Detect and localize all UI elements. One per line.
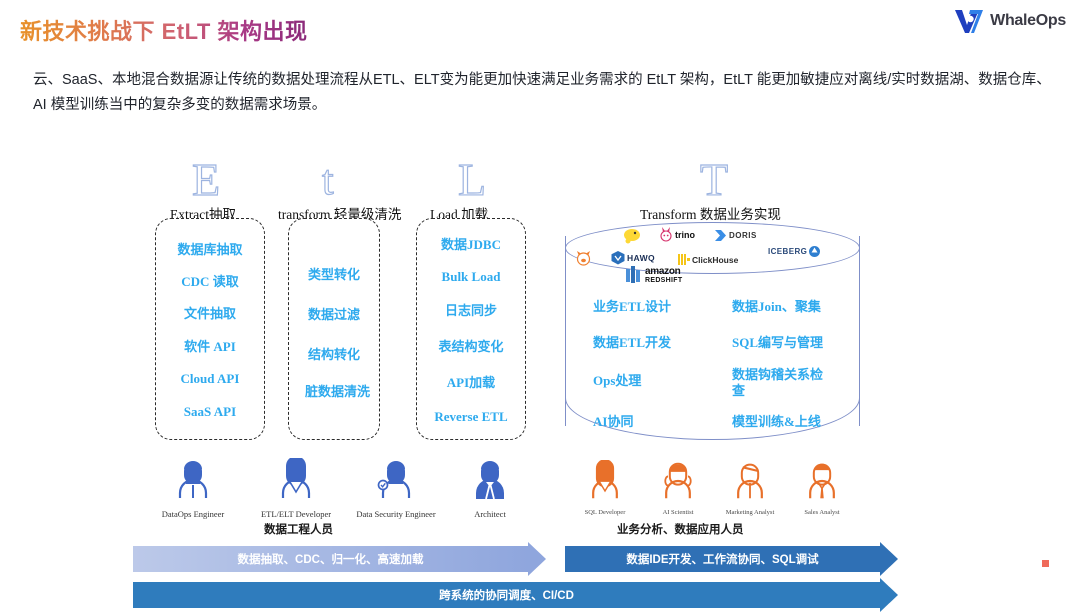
arrow-left-label: 数据抽取、CDC、归一化、高速加载 — [133, 546, 528, 572]
person-icon — [468, 458, 512, 502]
transform-cylinder: Hive trino DORIS Pig HAWQ — [565, 222, 860, 440]
iceberg-logo-icon: ICEBERG — [768, 246, 820, 257]
page-title: 新技术挑战下 EtLT 架构出现 — [20, 14, 307, 46]
persona-label: Data Security Engineer — [346, 509, 446, 519]
persona-label: ETL/ELT Developer — [246, 509, 346, 519]
list-item: API加载 — [417, 375, 525, 391]
list-item: 表结构变化 — [417, 339, 525, 355]
big-letter-t: t — [322, 160, 334, 202]
hawq-logo-icon: HAWQ — [611, 251, 655, 265]
big-letter-e: E — [192, 157, 220, 203]
persona-etl-elt-developer: ETL/ELT Developer — [246, 458, 346, 519]
arrow-head — [528, 542, 546, 576]
brand-name: WhaleOps — [990, 12, 1066, 30]
list-item: SaaS API — [156, 404, 264, 420]
list-item: 文件抽取 — [156, 306, 264, 322]
cyl-item: AI协同 — [593, 414, 633, 430]
big-letter-tt: T — [700, 157, 728, 203]
persona-label: Sales Analyst — [772, 509, 872, 516]
arrow-right-label: 数据IDE开发、工作流协同、SQL调试 — [565, 546, 880, 572]
column-header-transform: Transform 数据业务实现 — [640, 203, 781, 223]
list-item: Bulk Load — [417, 269, 525, 285]
subtitle-paragraph: 云、SaaS、本地混合数据源让传统的数据处理流程从ETL、ELT变为能更加快速满… — [33, 68, 1053, 119]
list-item: Reverse ETL — [417, 409, 525, 425]
cyl-item: SQL编写与管理 — [732, 335, 823, 351]
person-icon — [658, 460, 698, 502]
trino-logo-icon: trino — [659, 227, 695, 242]
cyl-item: 数据Join、聚集 — [732, 299, 821, 315]
list-item: 数据过滤 — [289, 307, 379, 323]
cyl-item: 模型训练&上线 — [732, 414, 821, 430]
column-box-transform-light: 类型转化 数据过滤 结构转化 脏数据清洗 — [288, 218, 380, 440]
persona-sales-analyst: Sales Analyst — [772, 460, 872, 516]
brand-logo: WhaleOps — [954, 8, 1066, 34]
person-icon — [374, 458, 418, 502]
list-item: 数据JDBC — [417, 237, 525, 253]
list-item: 日志同步 — [417, 303, 525, 319]
list-item: 软件 API — [156, 339, 264, 355]
list-item: 结构转化 — [289, 347, 379, 363]
hawq-logo-label: HAWQ — [627, 253, 655, 263]
arrow-head — [880, 578, 898, 612]
person-icon — [585, 460, 625, 502]
arrow-right-pipeline: 数据IDE开发、工作流协同、SQL调试 — [565, 542, 898, 576]
persona-label: DataOps Engineer — [143, 509, 243, 519]
cyl-item: 业务ETL设计 — [593, 299, 671, 315]
persona-label: Architect — [440, 509, 540, 519]
arrow-head — [880, 542, 898, 576]
arrow-left-pipeline: 数据抽取、CDC、归一化、高速加载 — [133, 542, 546, 576]
cyl-item: Ops处理 — [593, 373, 641, 389]
person-icon — [802, 460, 842, 502]
column-box-load: 数据JDBC Bulk Load 日志同步 表结构变化 API加载 Revers… — [416, 218, 526, 440]
list-item: Cloud API — [156, 371, 264, 387]
slide-root: 新技术挑战下 EtLT 架构出现 WhaleOps 云、SaaS、本地混合数据源… — [0, 0, 1080, 608]
decorative-square — [1042, 560, 1049, 567]
pig-logo-icon: Pig — [575, 250, 592, 266]
big-letter-l: L — [458, 157, 486, 203]
doris-logo-label: DORIS — [729, 231, 757, 240]
iceberg-logo-label: ICEBERG — [768, 247, 807, 256]
persona-architect: Architect — [440, 458, 540, 519]
column-box-extract: 数据库抽取 CDC 读取 文件抽取 软件 API Cloud API SaaS … — [155, 218, 265, 440]
persona-dataops-engineer: DataOps Engineer — [143, 458, 243, 519]
arrow-bottom-label: 跨系统的协同调度、CI/CD — [133, 582, 880, 608]
doris-logo-icon: DORIS — [714, 229, 757, 242]
hive-logo-icon: Hive — [623, 228, 641, 244]
list-item: 脏数据清洗 — [289, 384, 379, 400]
list-item: CDC 读取 — [156, 274, 264, 290]
blue-group-label: 数据工程人员 — [264, 521, 333, 537]
whaleops-w-mark-icon — [954, 8, 984, 34]
clickhouse-logo-label: ClickHouse — [692, 255, 738, 265]
amazon-redshift-logo-icon: amazon REDSHIFT — [626, 266, 682, 284]
person-icon — [171, 458, 215, 502]
orange-group-label: 业务分析、数据应用人员 — [617, 521, 744, 537]
list-item: 类型转化 — [289, 267, 379, 283]
cyl-item: 数据钩稽关系检查 — [732, 367, 828, 400]
trino-logo-label: trino — [675, 230, 695, 240]
person-icon — [730, 460, 770, 502]
tech-logo-strip: Hive trino DORIS Pig HAWQ — [571, 226, 854, 274]
clickhouse-logo-icon: ClickHouse — [678, 254, 738, 265]
persona-data-security-engineer: Data Security Engineer — [346, 458, 446, 519]
list-item: 数据库抽取 — [156, 242, 264, 258]
cyl-item: 数据ETL开发 — [593, 335, 671, 351]
arrow-bottom-pipeline: 跨系统的协同调度、CI/CD — [133, 578, 898, 612]
person-icon — [274, 458, 318, 502]
